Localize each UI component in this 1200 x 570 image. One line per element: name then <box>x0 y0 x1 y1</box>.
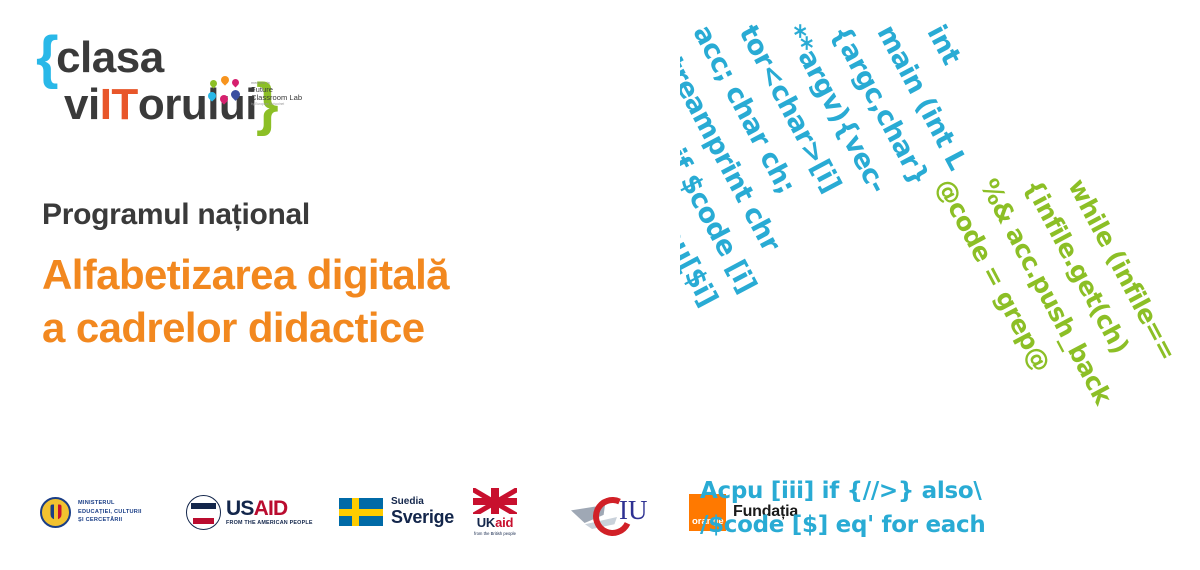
promo-banner: { clasa vi IT orului } membru în Future … <box>0 0 1200 570</box>
code-bottom-line-2: /$code [$] eq' for each <box>700 509 985 542</box>
logo-word-it: IT <box>100 82 138 128</box>
sweden-flag-icon <box>339 498 383 526</box>
code-art-decoration: int main (int L {argc,char} **argv){vec-… <box>680 0 1200 570</box>
usaid-main-text: USAID <box>226 498 313 519</box>
ministerul-text: MINISTERUL EDUCAȚIEI, CULTURII ȘI CERCET… <box>78 499 142 525</box>
usaid-wordmark: USAID FROM THE AMERICAN PEOPLE <box>226 498 313 526</box>
code-bottom-lines: Acpu [iii] if {//>} also\ /$code [$] eq'… <box>700 475 985 542</box>
usaid-aid-text: AID <box>254 497 288 520</box>
brace-open-icon: { <box>36 34 58 82</box>
future-classroom-lab-logo: membru în Future Classroom Lab by Europe… <box>208 76 302 112</box>
ciu-iu-letters: IU <box>619 495 648 526</box>
title-line-one: Alfabetizarea digitală <box>42 248 602 301</box>
logo-word-vi: vi <box>64 82 100 128</box>
ukaid-aid-text: aid <box>495 515 513 530</box>
partner-ministerul-educatiei: MINISTERUL EDUCAȚIEI, CULTURII ȘI CERCET… <box>40 487 180 537</box>
partner-usaid: USAID FROM THE AMERICAN PEOPLE <box>186 487 331 537</box>
ministerul-line-one: MINISTERUL <box>78 499 142 508</box>
usaid-tagline: FROM THE AMERICAN PEOPLE <box>226 521 313 526</box>
fcl-dots-icon <box>208 76 246 112</box>
ukaid-tagline: from the British people <box>473 531 517 536</box>
ciu-logo-icon: IU <box>571 493 671 531</box>
code-line-teal-1: int <box>921 20 967 70</box>
sweden-label-sv: Sverige <box>391 508 454 527</box>
title-line-two: a cadrelor didactice <box>42 301 602 354</box>
ukaid-main-text: UKaid <box>473 515 517 530</box>
logo-line-one: { clasa <box>36 34 336 82</box>
moldova-coat-of-arms-icon <box>40 497 71 528</box>
headline-block: Programul național Alfabetizarea digital… <box>42 198 602 355</box>
partner-sweden: Suedia Sverige <box>339 487 469 537</box>
kicker-text: Programul național <box>42 198 602 232</box>
usaid-us-text: US <box>226 497 254 520</box>
partner-ciu: IU <box>571 487 681 537</box>
ukaid-wordmark: UKaid from the British people <box>473 488 517 536</box>
clasa-viitorului-logo: { clasa vi IT orului } membru în Future … <box>36 34 336 134</box>
partner-ukaid: UKaid from the British people <box>473 487 565 537</box>
ministerul-line-two: EDUCAȚIEI, CULTURII <box>78 508 142 517</box>
logo-word-clasa: clasa <box>56 35 164 81</box>
fcl-footer-label: by European Schoolnet <box>251 103 302 107</box>
fcl-text: membru în Future Classroom Lab by Europe… <box>251 81 302 106</box>
code-bottom-line-1: Acpu [iii] if {//>} also\ <box>700 475 985 508</box>
union-jack-icon <box>473 488 517 514</box>
usaid-seal-icon <box>186 495 221 530</box>
ministerul-line-three: ȘI CERCETĂRII <box>78 516 142 525</box>
sweden-wordmark: Suedia Sverige <box>391 497 454 526</box>
ukaid-uk-text: UK <box>477 515 495 530</box>
